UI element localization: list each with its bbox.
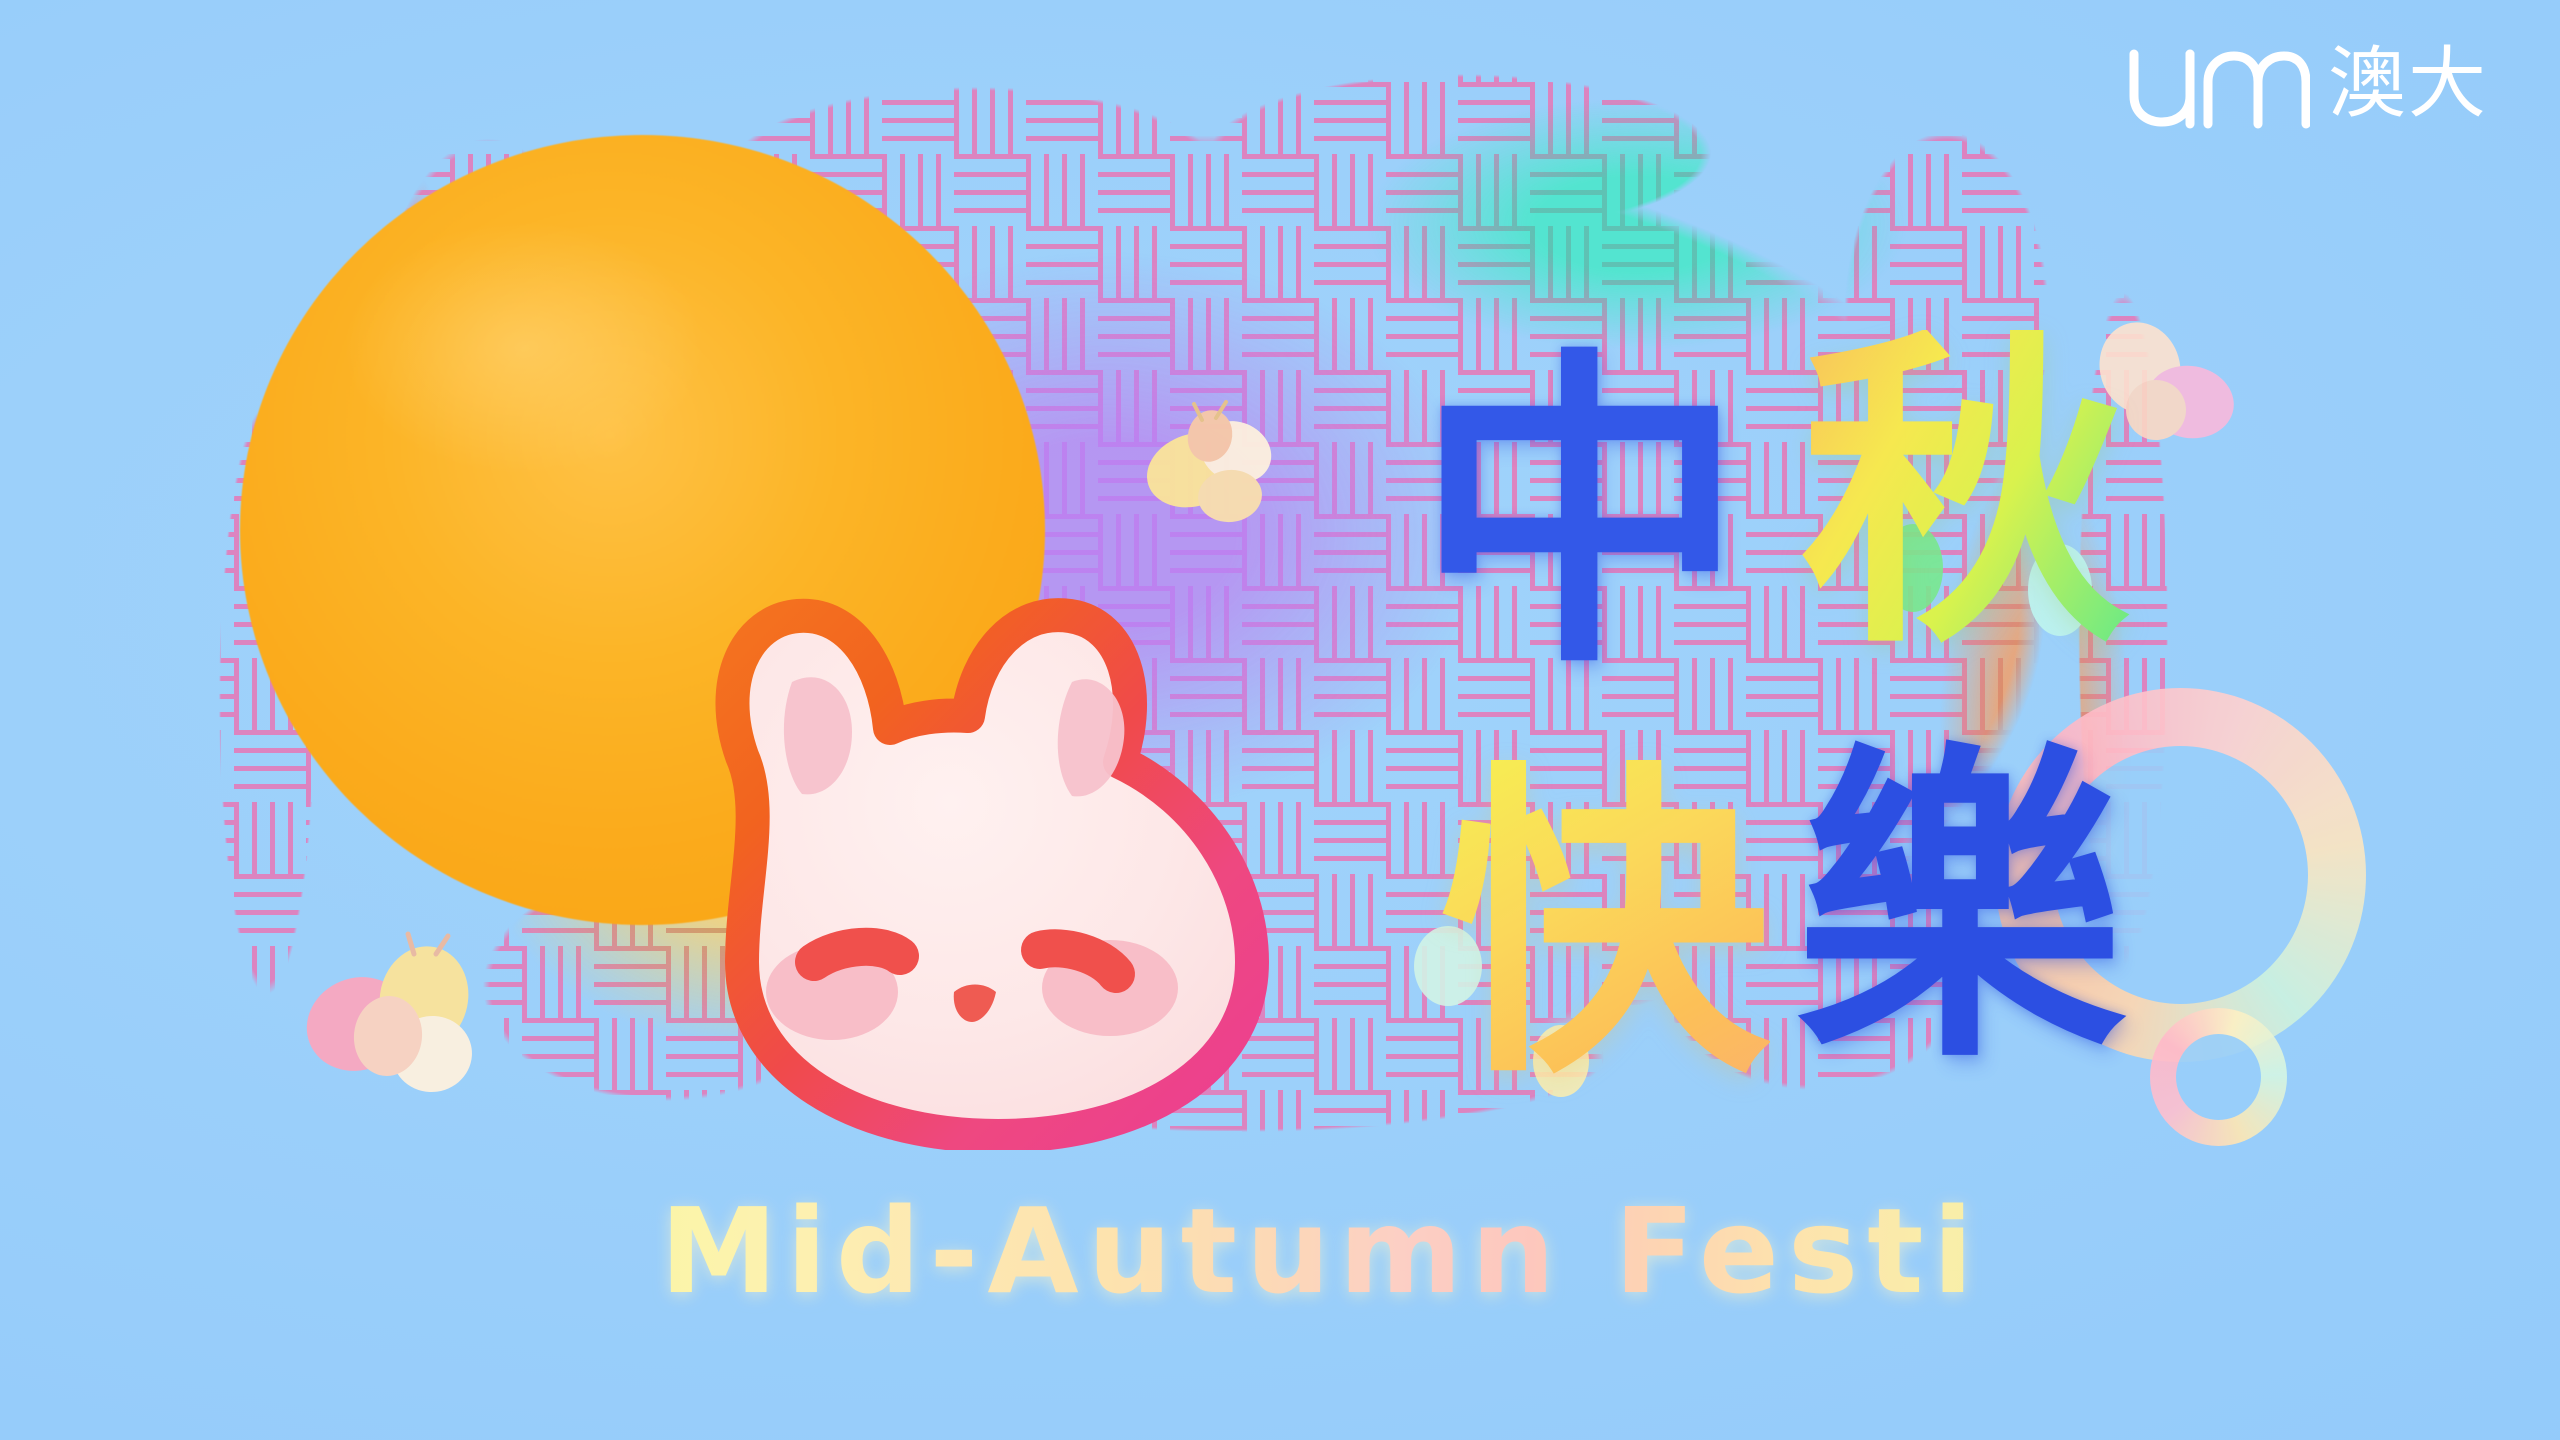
greeting-char-zhong: 中: [1415, 350, 1745, 680]
um-wordmark-icon: [2120, 38, 2310, 130]
greeting-char-qiu: 秋: [1800, 330, 2130, 660]
mooncake-ring-small-icon: [2150, 1008, 2287, 1146]
um-chinese-name: 澳大: [2328, 45, 2488, 123]
greeting-poster: 中 秋 快 樂 Mid-Autumn Festival 澳大: [0, 0, 2560, 1440]
greeting-char-le: 樂: [1795, 745, 2125, 1075]
greeting-char-kuai: 快: [1440, 760, 1770, 1090]
um-logo: 澳大: [2120, 38, 2488, 130]
butterfly-left-icon: [296, 928, 506, 1118]
subtitle-text: Mid-Autumn Festival: [660, 1182, 1980, 1320]
rabbit-illustration: [480, 470, 1370, 1150]
